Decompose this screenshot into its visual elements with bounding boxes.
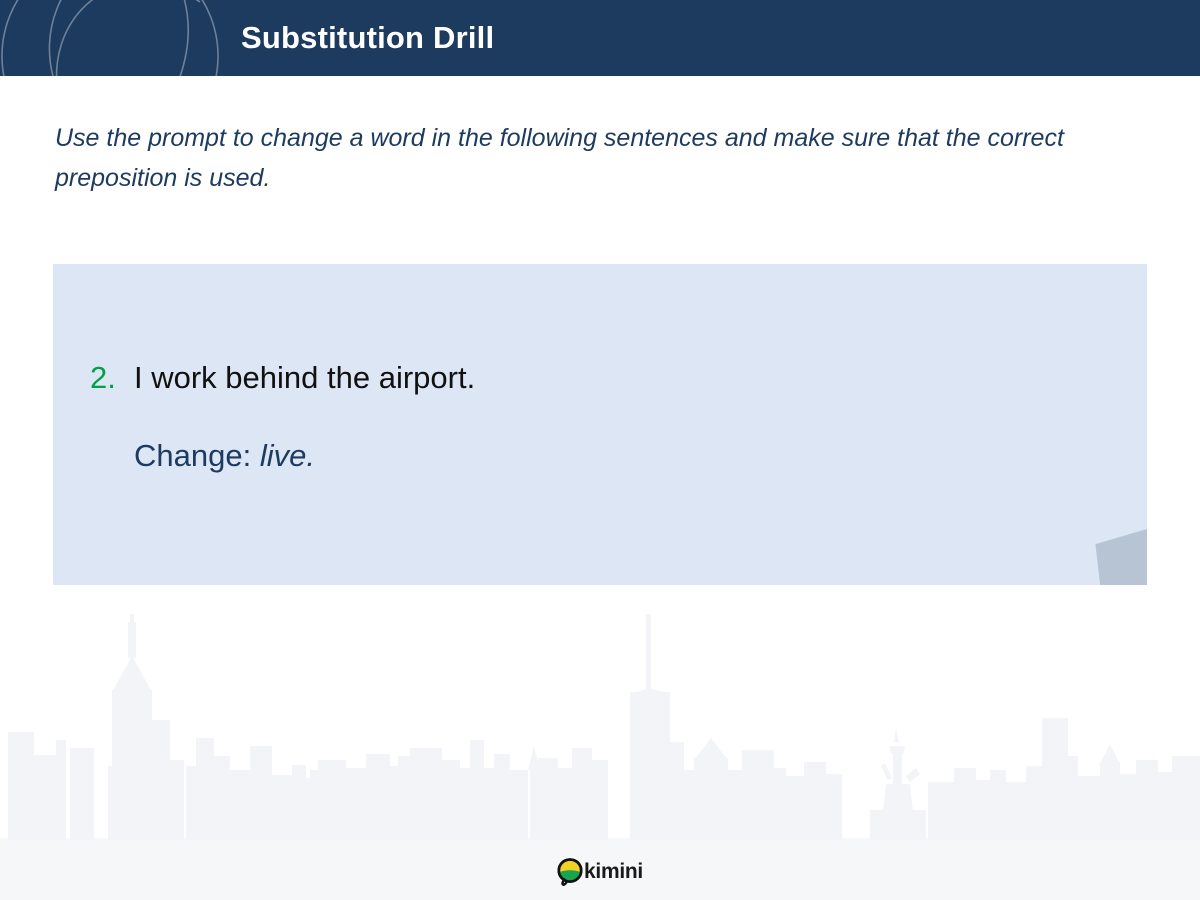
exercise-item-body: I work behind the airport. Change: live. — [134, 358, 475, 476]
change-word: live. — [260, 438, 315, 473]
exercise-item-sentence: I work behind the airport. — [134, 360, 475, 395]
kimini-balloon-logo-icon — [557, 858, 583, 886]
change-label: Change: — [134, 438, 251, 473]
exercise-item-change: Change: live. — [134, 436, 475, 476]
instruction-text: Use the prompt to change a word in the f… — [55, 118, 1120, 198]
slide-header: Substitution Drill — [0, 0, 1200, 76]
city-skyline-watermark-icon — [0, 570, 1200, 840]
brand-name: kimini — [584, 860, 643, 884]
exercise-item: 2. I work behind the airport. Change: li… — [90, 358, 475, 476]
exercise-item-number: 2. — [90, 358, 134, 398]
exercise-card: 2. I work behind the airport. Change: li… — [53, 264, 1147, 585]
slide-root: Substitution Drill Use the prompt to cha… — [0, 0, 1200, 900]
brand-footer: kimini — [0, 858, 1200, 886]
page-title: Substitution Drill — [241, 0, 494, 76]
stylized-g-logo-watermark-icon — [0, 0, 222, 76]
